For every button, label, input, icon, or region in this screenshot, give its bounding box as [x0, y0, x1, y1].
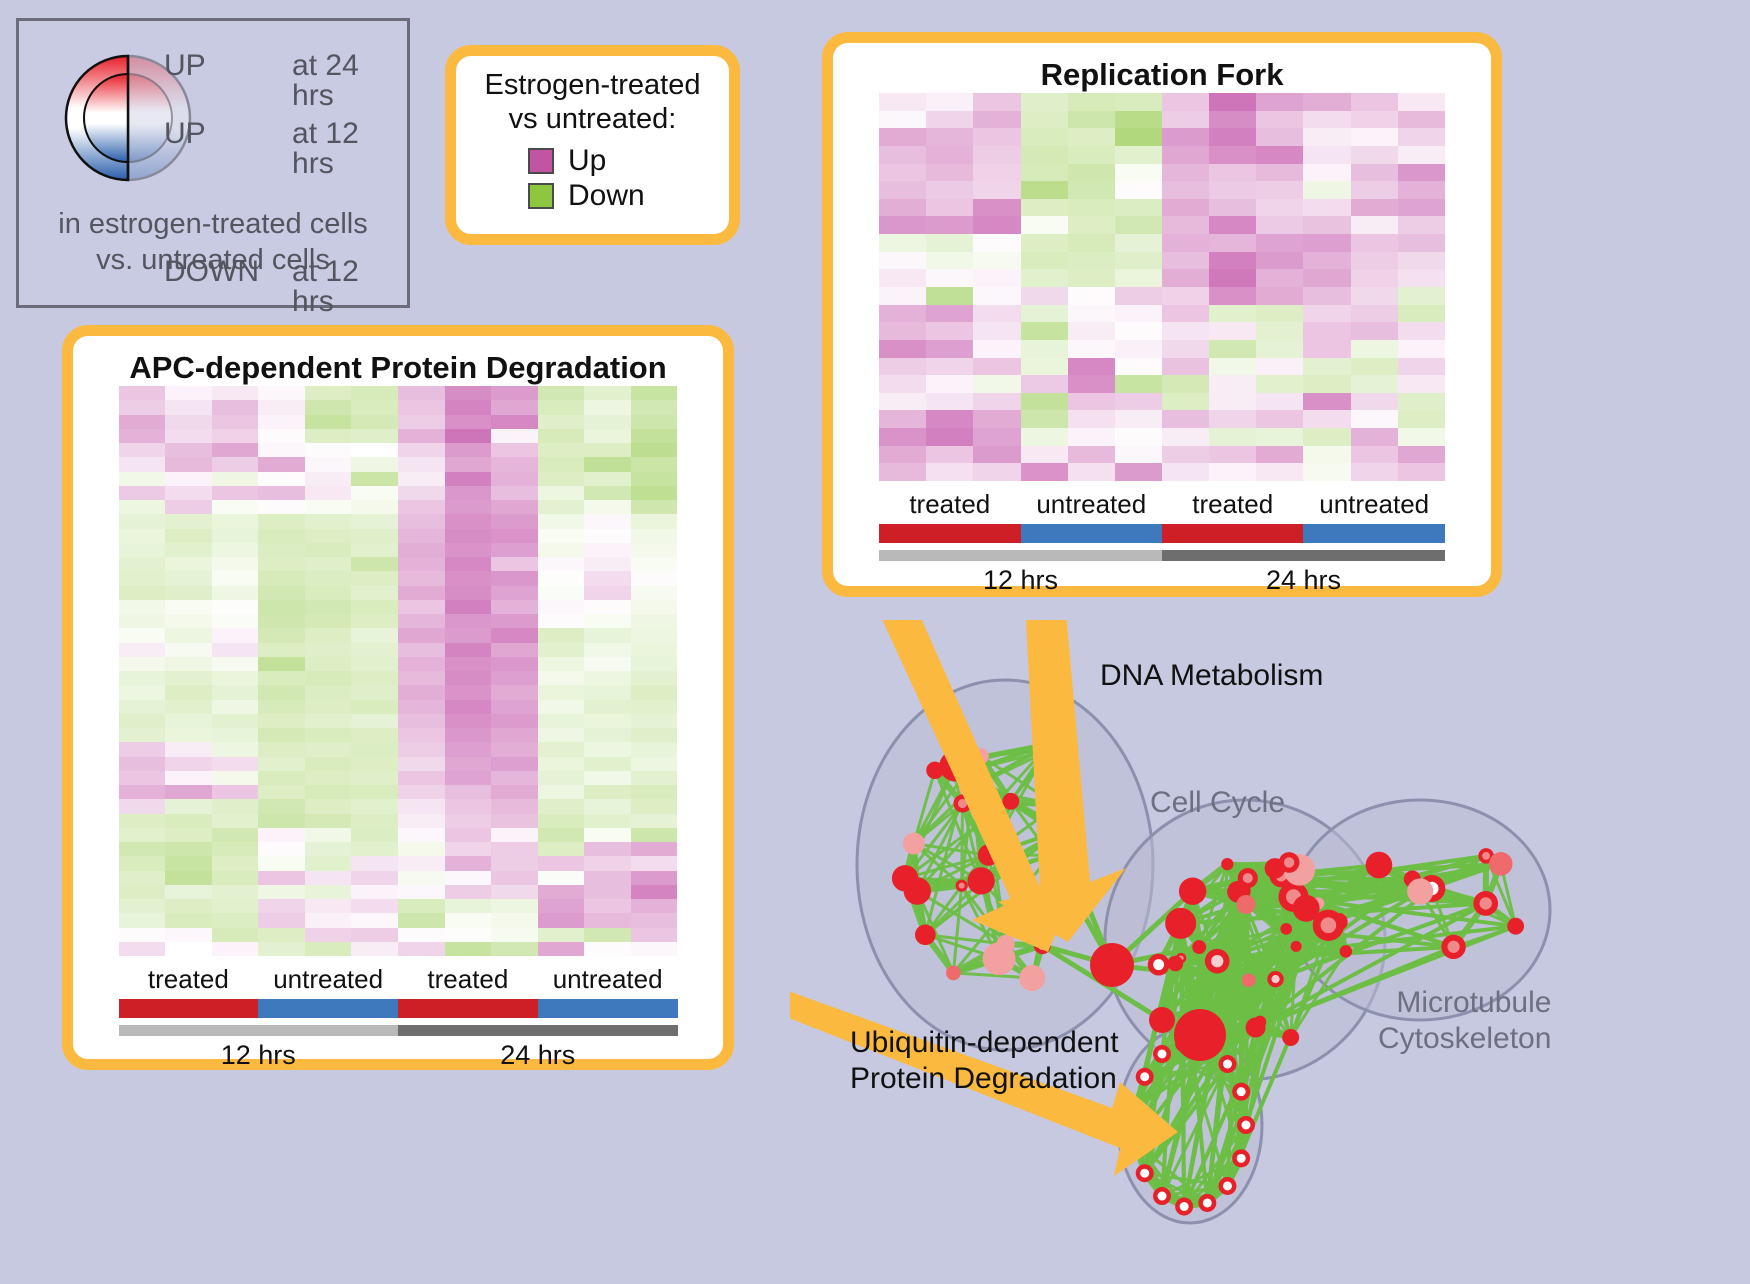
heatmap-cell	[212, 628, 259, 642]
heatmap-cell	[1068, 358, 1115, 376]
heatmap-cell	[1068, 428, 1115, 446]
heatmap-cell	[631, 514, 678, 528]
heatmap-cell	[1115, 393, 1162, 411]
heatmap-cell	[584, 728, 631, 742]
heatmap-cell	[351, 657, 398, 671]
heatmap-cell	[212, 429, 259, 443]
heatmap-cell	[973, 93, 1020, 111]
heatmap-cell	[926, 93, 973, 111]
heatmap-cell	[1021, 128, 1068, 146]
heatmap-cell	[398, 685, 445, 699]
up-swatch-icon	[528, 148, 554, 174]
heatmap-cell	[1209, 181, 1256, 199]
heatmap-cell	[631, 671, 678, 685]
heatmap-apc-degradation	[119, 386, 678, 956]
heatmap-cell	[1162, 199, 1209, 217]
heatmap-cell	[879, 305, 926, 323]
heatmap-cell	[584, 543, 631, 557]
heatmap-cell	[1115, 164, 1162, 182]
heatmap-cell	[491, 628, 538, 642]
heatmap-cell	[1115, 305, 1162, 323]
heatmap-cell	[1351, 164, 1398, 182]
heatmap-cell	[165, 842, 212, 856]
heatmap-cell	[584, 657, 631, 671]
heatmap-cell	[258, 913, 305, 927]
heatmap-cell	[1351, 375, 1398, 393]
heatmap-cell	[1398, 340, 1445, 358]
heatmap-cell	[398, 700, 445, 714]
heatmap-cell	[584, 885, 631, 899]
heatmap-cell	[926, 393, 973, 411]
heatmap-cell	[926, 181, 973, 199]
heatmap-cell	[973, 358, 1020, 376]
heatmap-cell	[1351, 393, 1398, 411]
heatmap-cell	[351, 457, 398, 471]
heatmap-cell	[1068, 128, 1115, 146]
legend-panel-title: Estrogen-treated vs untreated:	[456, 68, 729, 136]
heatmap-cell	[1068, 463, 1115, 481]
heatmap-cell	[491, 486, 538, 500]
heatmap-cell	[926, 111, 973, 129]
heatmap-cell	[258, 386, 305, 400]
heatmap-cell	[584, 757, 631, 771]
heatmap-cell	[351, 700, 398, 714]
heatmap-cell	[398, 457, 445, 471]
heatmap-cell	[165, 785, 212, 799]
time-color-segment	[879, 550, 1162, 561]
heatmap-cell	[351, 586, 398, 600]
heatmap-cell	[1303, 463, 1350, 481]
heatmap-cell	[491, 942, 538, 956]
heatmap-cell	[1209, 111, 1256, 129]
heatmap-cell	[258, 685, 305, 699]
heatmap-cell	[491, 771, 538, 785]
heatmap-cell	[165, 600, 212, 614]
heatmap-cell	[1068, 93, 1115, 111]
heatmap-cell	[631, 472, 678, 486]
sample-label: treated	[1162, 489, 1303, 520]
heatmap-cell	[1256, 146, 1303, 164]
legend-item-label: Up	[568, 144, 606, 178]
heatmap-cell	[584, 671, 631, 685]
heatmap-cell	[538, 614, 585, 628]
heatmap-cell	[398, 828, 445, 842]
heatmap-cell	[165, 543, 212, 557]
heatmap-cell	[119, 742, 166, 756]
heatmap-cell	[491, 828, 538, 842]
heatmap-cell	[1068, 181, 1115, 199]
heatmap-cell	[351, 628, 398, 642]
heatmap-cell	[398, 799, 445, 813]
heatmap-cell	[351, 728, 398, 742]
time-color-bar	[119, 1025, 678, 1036]
heatmap-cell	[584, 628, 631, 642]
heatmap-cell	[491, 500, 538, 514]
sample-color-segment	[258, 999, 398, 1018]
heatmap-cell	[351, 899, 398, 913]
heatmap-cell	[1303, 287, 1350, 305]
sample-labels-row: treateduntreatedtreateduntreated	[119, 964, 678, 995]
heatmap-cell	[165, 871, 212, 885]
legend-title-line-1: Estrogen-treated	[456, 68, 729, 102]
heatmap-cell	[1209, 234, 1256, 252]
heatmap-cell	[1256, 358, 1303, 376]
heatmap-cell	[491, 514, 538, 528]
heatmap-cell	[973, 410, 1020, 428]
heatmap-cell	[1398, 463, 1445, 481]
heatmap-cell	[351, 529, 398, 543]
legend-item-down: Down	[528, 179, 729, 213]
heatmap-cell	[398, 899, 445, 913]
heatmap-cell	[1256, 393, 1303, 411]
heatmap-cell	[1068, 410, 1115, 428]
heatmap-cell	[879, 322, 926, 340]
heatmap-cell	[1209, 340, 1256, 358]
heatmap-cell	[398, 885, 445, 899]
heatmap-cell	[1256, 428, 1303, 446]
heatmap-cell	[445, 771, 492, 785]
heatmap-cell	[1021, 146, 1068, 164]
heatmap-cell	[1398, 164, 1445, 182]
heatmap-cell	[879, 234, 926, 252]
heatmap-cell	[212, 814, 259, 828]
heatmap-cell	[1209, 269, 1256, 287]
sample-label: treated	[398, 964, 538, 995]
heatmap-cell	[351, 571, 398, 585]
heatmap-cell	[584, 871, 631, 885]
heatmap-cell	[584, 899, 631, 913]
heatmap-cell	[212, 871, 259, 885]
heatmap-cell	[1398, 428, 1445, 446]
heatmap-cell	[584, 714, 631, 728]
heatmap-cell	[445, 742, 492, 756]
heatmap-cell	[631, 600, 678, 614]
heatmap-cell	[584, 614, 631, 628]
heatmap-cell	[1115, 428, 1162, 446]
heatmap-cell	[1303, 269, 1350, 287]
heatmap-cell	[538, 386, 585, 400]
heatmap-cell	[538, 628, 585, 642]
heatmap-cell	[631, 942, 678, 956]
heatmap-cell	[165, 628, 212, 642]
key-legend-footer: in estrogen-treated cells vs. untreated …	[19, 206, 407, 279]
heatmap-cell	[491, 742, 538, 756]
heatmap-cell	[631, 628, 678, 642]
heatmap-cell	[398, 586, 445, 600]
heatmap-cell	[305, 913, 352, 927]
heatmap-cell	[1351, 216, 1398, 234]
heatmap-cell	[1021, 269, 1068, 287]
heatmap-cell	[212, 543, 259, 557]
heatmap-cell	[926, 234, 973, 252]
heatmap-cell	[631, 913, 678, 927]
heatmap-cell	[973, 269, 1020, 287]
heatmap-cell	[119, 942, 166, 956]
heatmap-cell	[491, 856, 538, 870]
heatmap-cell	[879, 216, 926, 234]
heatmap-cell	[879, 358, 926, 376]
heatmap-cell	[491, 443, 538, 457]
heatmap-cell	[119, 856, 166, 870]
heatmap-cell	[305, 942, 352, 956]
heatmap-cell	[305, 557, 352, 571]
heatmap-cell	[926, 216, 973, 234]
heatmap-cell	[631, 643, 678, 657]
heatmap-cell	[584, 386, 631, 400]
heatmap-cell	[165, 828, 212, 842]
heatmap-cell	[584, 828, 631, 842]
heatmap-cell	[538, 771, 585, 785]
heatmap-cell	[538, 742, 585, 756]
heatmap-cell	[351, 913, 398, 927]
sample-label: untreated	[258, 964, 398, 995]
time-label: 12 hrs	[879, 565, 1162, 596]
heatmap-cell	[165, 728, 212, 742]
heatmap-cell	[1398, 111, 1445, 129]
heatmap-cell	[445, 799, 492, 813]
heatmap-cell	[119, 657, 166, 671]
heatmap-cell	[305, 643, 352, 657]
heatmap-cell	[1068, 305, 1115, 323]
heatmap-cell	[212, 657, 259, 671]
heatmap-cell	[538, 885, 585, 899]
page-title: APC-dependent Protein Degradation	[73, 350, 723, 386]
heatmap-cell	[305, 486, 352, 500]
heatmap-cell	[631, 757, 678, 771]
heatmap-cell	[491, 657, 538, 671]
heatmap-cell	[119, 785, 166, 799]
heatmap-cell	[1162, 111, 1209, 129]
heatmap-cell	[165, 400, 212, 414]
heatmap-cell	[258, 757, 305, 771]
heatmap-cell	[584, 842, 631, 856]
key-legend-box: UP at 24 hrs UP at 12 hrs DOWN at 12 hrs…	[16, 18, 410, 308]
key-direction-label: UP	[164, 119, 292, 149]
heatmap-cell	[398, 928, 445, 942]
heatmap-cell	[1351, 111, 1398, 129]
heatmap-cell	[584, 928, 631, 942]
heatmap-cell	[1021, 340, 1068, 358]
heatmap-cell	[491, 785, 538, 799]
heatmap-cell	[1115, 199, 1162, 217]
heatmap-cell	[491, 529, 538, 543]
heatmap-cell	[258, 486, 305, 500]
heatmap-cell	[212, 842, 259, 856]
heatmap-cell	[879, 93, 926, 111]
heatmap-cell	[351, 486, 398, 500]
sample-label: untreated	[538, 964, 678, 995]
heatmap-cell	[1209, 322, 1256, 340]
time-labels-row: 12 hrs24 hrs	[879, 565, 1445, 596]
heatmap-cell	[258, 871, 305, 885]
heatmap-cell	[879, 393, 926, 411]
heatmap-cell	[305, 443, 352, 457]
time-color-segment	[1162, 550, 1445, 561]
heatmap-cell	[119, 685, 166, 699]
heatmap-cell	[119, 529, 166, 543]
heatmap-cell	[119, 571, 166, 585]
heatmap-cell	[1115, 375, 1162, 393]
heatmap-cell	[1209, 375, 1256, 393]
heatmap-cell	[305, 742, 352, 756]
sample-color-segment	[1162, 524, 1303, 543]
legend-items: Up Down	[456, 144, 729, 213]
heatmap-cell	[258, 856, 305, 870]
sample-color-segment	[879, 524, 1020, 543]
heatmap-cell	[305, 386, 352, 400]
heatmap-cell	[538, 457, 585, 471]
heatmap-cell	[1209, 428, 1256, 446]
heatmap-cell	[165, 757, 212, 771]
heatmap-cell	[631, 557, 678, 571]
heatmap-cell	[305, 429, 352, 443]
heatmap-cell	[1162, 269, 1209, 287]
heatmap-cell	[445, 657, 492, 671]
heatmap-cell	[926, 269, 973, 287]
heatmap-cell	[584, 472, 631, 486]
heatmap-cell	[305, 842, 352, 856]
heatmap-cell	[1115, 358, 1162, 376]
heatmap-cell	[538, 928, 585, 942]
heatmap-cell	[212, 742, 259, 756]
heatmap-cell	[351, 885, 398, 899]
heatmap-cell	[445, 628, 492, 642]
heatmap-cell	[584, 514, 631, 528]
heatmap-cell	[879, 446, 926, 464]
heatmap-cell	[165, 443, 212, 457]
heatmap-cell	[584, 600, 631, 614]
heatmap-cell	[1351, 269, 1398, 287]
heatmap-cell	[351, 443, 398, 457]
heatmap-cell	[212, 400, 259, 414]
heatmap-cell	[1303, 164, 1350, 182]
heatmap-cell	[1115, 269, 1162, 287]
heatmap-cell	[631, 486, 678, 500]
heatmap-cell	[351, 386, 398, 400]
heatmap-cell	[631, 443, 678, 457]
heatmap-cell	[445, 871, 492, 885]
heatmap-cell	[584, 799, 631, 813]
heatmap-cell	[351, 757, 398, 771]
heatmap-cell	[258, 714, 305, 728]
heatmap-cell	[1398, 287, 1445, 305]
heatmap-cell	[631, 771, 678, 785]
heatmap-cell	[1351, 322, 1398, 340]
heatmap-cell	[351, 415, 398, 429]
heatmap-cell	[1303, 375, 1350, 393]
heatmap-cell	[351, 814, 398, 828]
heatmap-cell	[212, 685, 259, 699]
heatmap-cell	[1398, 446, 1445, 464]
heatmap-cell	[258, 799, 305, 813]
heatmap-cell	[1115, 410, 1162, 428]
heatmap-cell	[258, 671, 305, 685]
heatmap-cell	[1068, 111, 1115, 129]
heatmap-cell	[1162, 375, 1209, 393]
heatmap-cell	[1068, 146, 1115, 164]
heatmap-cell	[1256, 199, 1303, 217]
heatmap-cell	[538, 571, 585, 585]
heatmap-cell	[491, 571, 538, 585]
heatmap-cell	[165, 472, 212, 486]
heatmap-cell	[212, 799, 259, 813]
heatmap-cell	[1303, 252, 1350, 270]
heatmap-cell	[1256, 128, 1303, 146]
heatmap-cell	[491, 814, 538, 828]
heatmap-cell	[165, 514, 212, 528]
heatmap-cell	[258, 443, 305, 457]
heatmap-cell	[351, 842, 398, 856]
heatmap-cell	[491, 728, 538, 742]
heatmap-cell	[212, 472, 259, 486]
heatmap-cell	[258, 500, 305, 514]
heatmap-cell	[445, 785, 492, 799]
heatmap-cell	[1256, 322, 1303, 340]
heatmap-cell	[445, 885, 492, 899]
heatmap-cell	[973, 111, 1020, 129]
heatmap-cell	[305, 856, 352, 870]
heatmap-cell	[491, 643, 538, 657]
heatmap-cell	[538, 529, 585, 543]
heatmap-cell	[1256, 93, 1303, 111]
heatmap-cell	[445, 685, 492, 699]
heatmap-cell	[165, 799, 212, 813]
cluster-label-microtubule-cytoskeleton: Microtubule Cytoskeleton	[1378, 985, 1551, 1057]
heatmap-cell	[631, 500, 678, 514]
sample-label: treated	[119, 964, 259, 995]
heatmap-cell	[491, 557, 538, 571]
heatmap-cell	[398, 415, 445, 429]
heatmap-cell	[1351, 181, 1398, 199]
heatmap-cell	[445, 614, 492, 628]
time-labels-row: 12 hrs24 hrs	[119, 1040, 678, 1071]
heatmap-cell	[584, 429, 631, 443]
heatmap-cell	[631, 657, 678, 671]
heatmap-cell	[1068, 269, 1115, 287]
heatmap-cell	[258, 557, 305, 571]
heatmap-cell	[445, 913, 492, 927]
apc-degradation-panel: APC-dependent Protein Degradation treate…	[62, 325, 734, 1070]
heatmap-cell	[1303, 199, 1350, 217]
heatmap-cell	[1021, 428, 1068, 446]
heatmap-cell	[584, 771, 631, 785]
heatmap-cell	[1256, 252, 1303, 270]
heatmap-cell	[584, 586, 631, 600]
sample-label: untreated	[1021, 489, 1162, 520]
heatmap-cell	[445, 814, 492, 828]
heatmap-cell	[1115, 322, 1162, 340]
heatmap-cell	[631, 885, 678, 899]
heatmap-cell	[879, 146, 926, 164]
heatmap-cell	[398, 871, 445, 885]
heatmap-cell	[1209, 410, 1256, 428]
heatmap-cell	[1303, 181, 1350, 199]
heatmap-cell	[1303, 111, 1350, 129]
heatmap-cell	[398, 814, 445, 828]
heatmap-cell	[119, 400, 166, 414]
heatmap-cell	[1398, 393, 1445, 411]
heatmap-cell	[1162, 164, 1209, 182]
heatmap-cell	[1256, 375, 1303, 393]
heatmap-cell	[119, 386, 166, 400]
heatmap-cell	[212, 443, 259, 457]
heatmap-cell	[1209, 446, 1256, 464]
heatmap-cell	[119, 799, 166, 813]
heatmap-cell	[973, 164, 1020, 182]
sample-color-bar	[879, 524, 1445, 543]
heatmap-cell	[398, 671, 445, 685]
heatmap-cell	[879, 111, 926, 129]
